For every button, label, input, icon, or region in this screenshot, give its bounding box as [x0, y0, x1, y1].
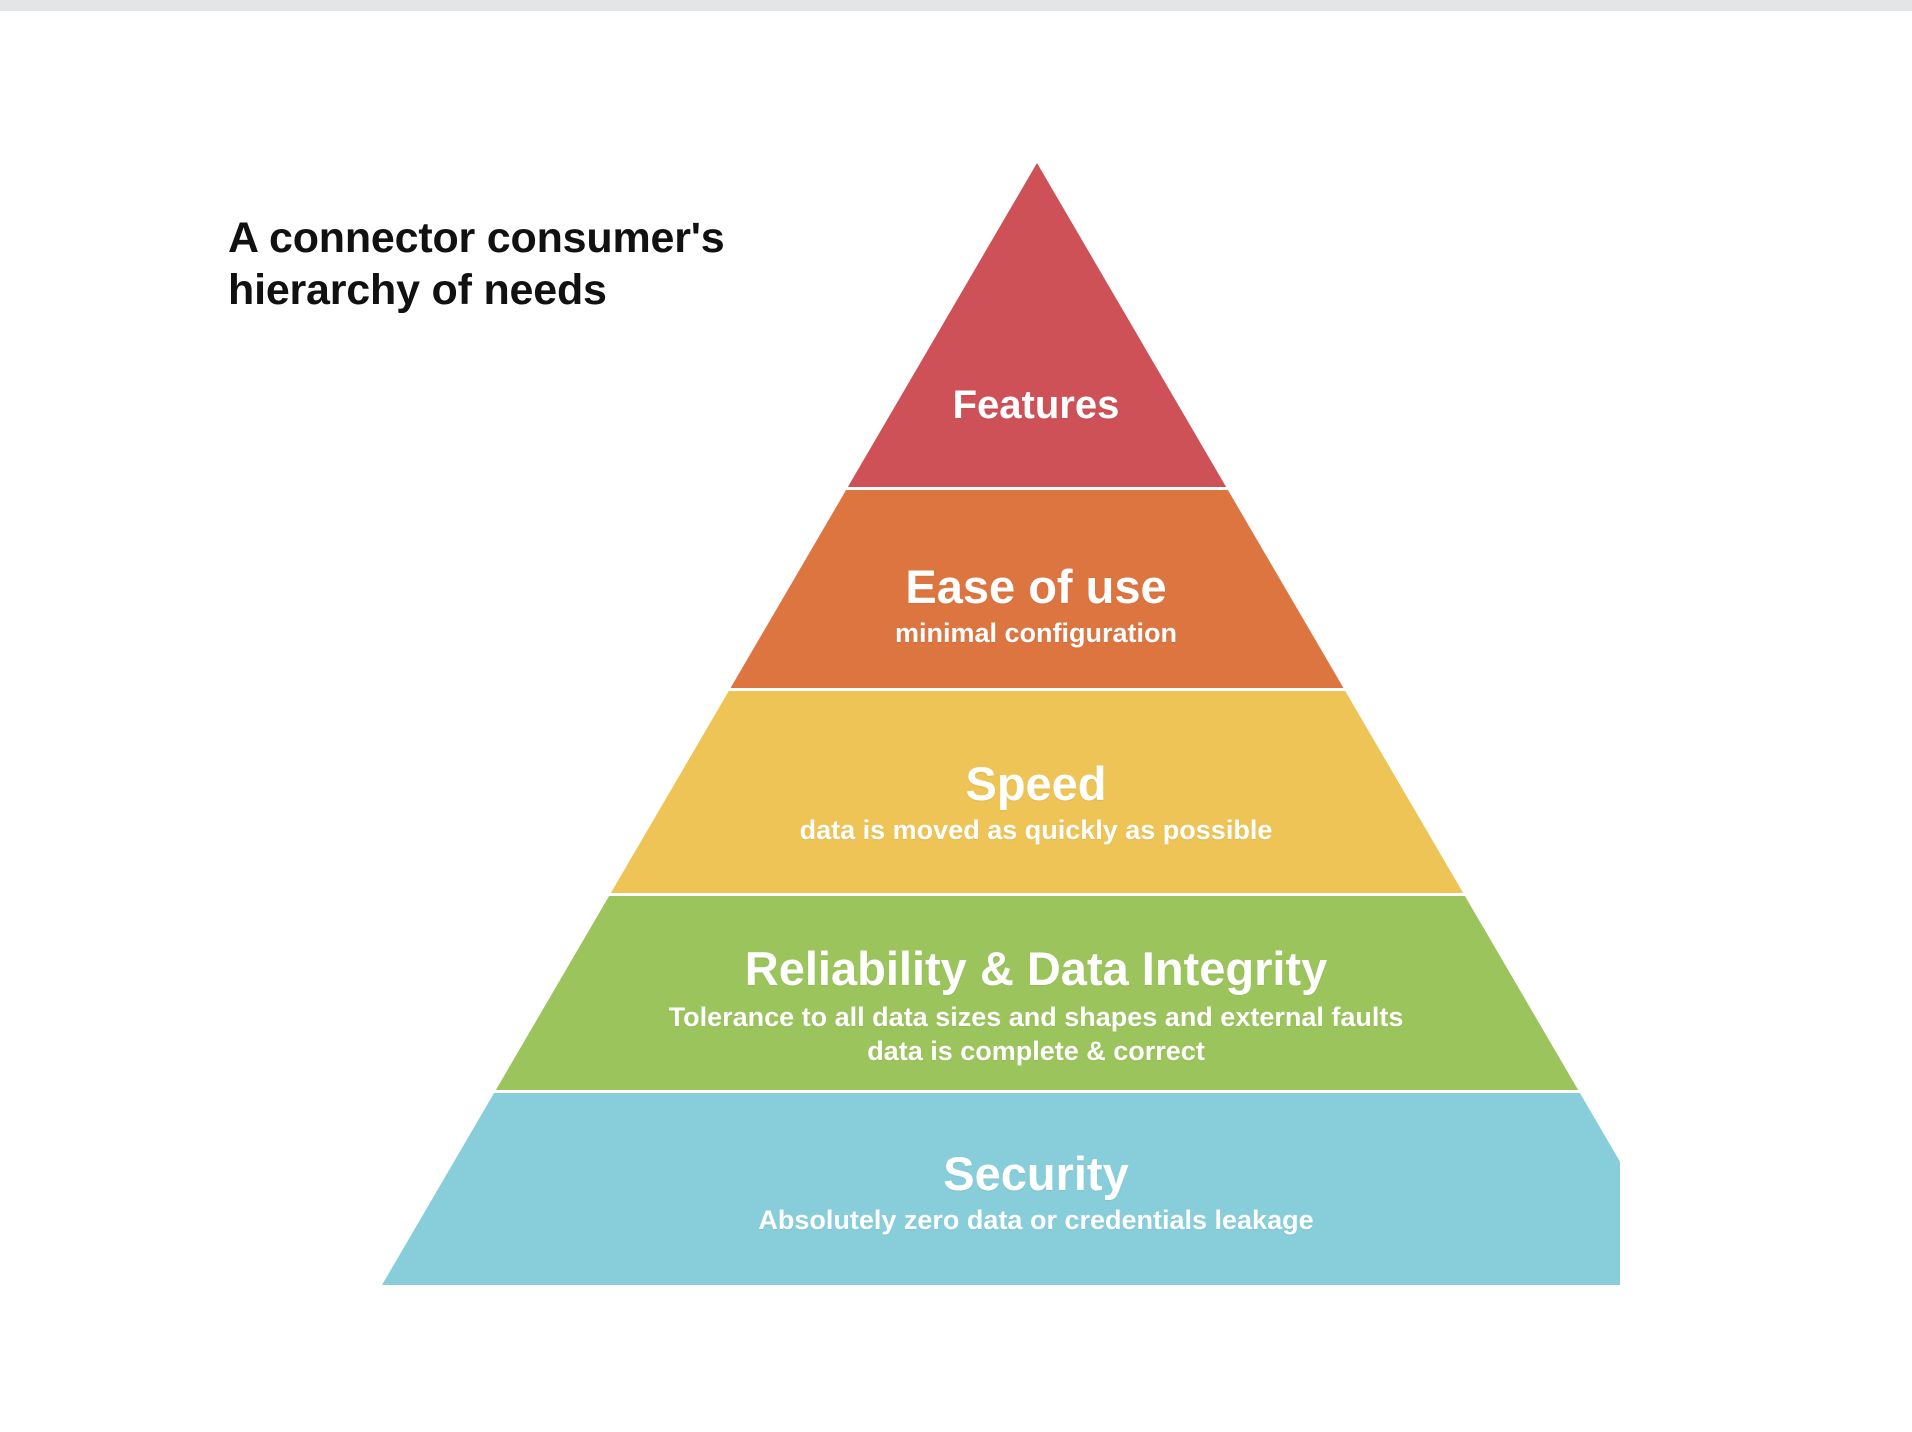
pyramid-tier-features-shape	[300, 150, 1620, 487]
tier-subtitle-ease-of-use: minimal configuration	[636, 620, 1436, 648]
tier-subtitle-line: Absolutely zero data or credentials leak…	[386, 1207, 1686, 1235]
tier-subtitle-line: data is moved as quickly as possible	[556, 817, 1516, 845]
pyramid-tier-ease-of-use-label: Ease of use minimal configuration	[636, 563, 1436, 647]
tier-title-security: Security	[386, 1150, 1686, 1198]
tier-title-speed: Speed	[556, 760, 1516, 808]
tier-title-ease-of-use: Ease of use	[636, 563, 1436, 611]
tier-title-features: Features	[706, 385, 1366, 426]
tier-subtitle-speed: data is moved as quickly as possible	[556, 817, 1516, 845]
pyramid-tier-features-label: Features	[706, 385, 1366, 426]
tier-subtitle-security: Absolutely zero data or credentials leak…	[386, 1207, 1686, 1235]
pyramid-tier-security-label: Security Absolutely zero data or credent…	[386, 1150, 1686, 1234]
pyramid-tier-speed-label: Speed data is moved as quickly as possib…	[556, 760, 1516, 844]
tier-title-reliability: Reliability & Data Integrity	[446, 945, 1626, 993]
tier-subtitle-reliability: Tolerance to all data sizes and shapes a…	[446, 1001, 1626, 1069]
tier-subtitle-line: data is complete & correct	[446, 1035, 1626, 1069]
tier-subtitle-line: Tolerance to all data sizes and shapes a…	[446, 1001, 1626, 1035]
pyramid-tier-reliability-label: Reliability & Data Integrity Tolerance t…	[446, 945, 1626, 1068]
tier-subtitle-line: minimal configuration	[636, 620, 1436, 648]
